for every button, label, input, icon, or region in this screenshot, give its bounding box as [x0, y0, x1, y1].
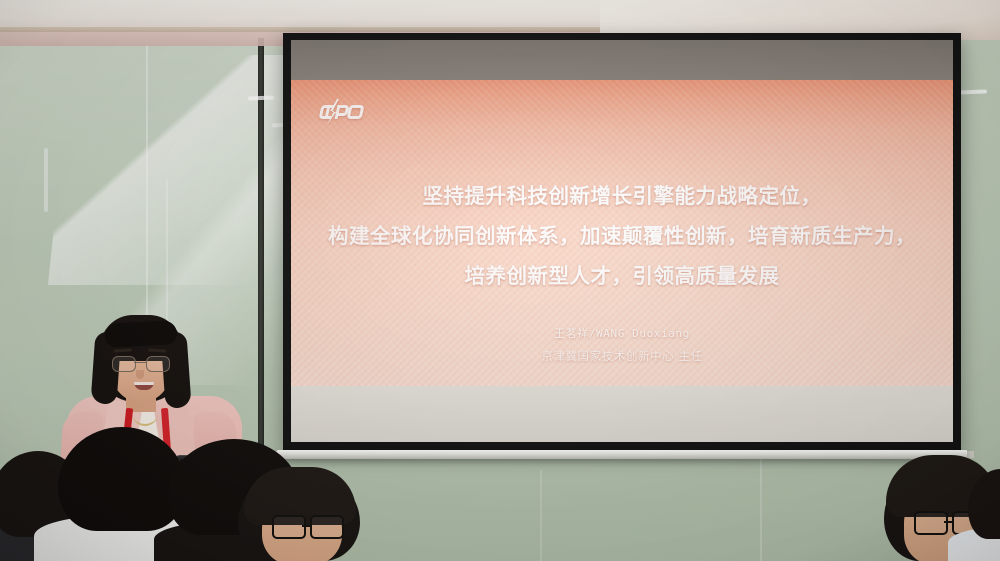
slide-presenter-name: 王茗祥/WANG Duoxiang [291, 323, 953, 345]
slide-title-line: 坚持提升科技创新增长引擎能力战略定位， [291, 176, 953, 216]
presenter-hair-fringe [104, 320, 177, 348]
eyeglass-bridge [302, 525, 310, 527]
slide-presenter-affiliation: 京津冀国家技术创新中心 主任 [291, 345, 953, 367]
projection-letterbox-bottom [291, 386, 953, 442]
screen-roller-bar [277, 450, 967, 459]
audience-member-6 [968, 465, 1000, 561]
audience-eyeglasses-icon [272, 519, 342, 539]
eyeglass-lens-right [146, 356, 170, 372]
presenter-nose [136, 370, 144, 379]
presenter-eyeglasses-icon [112, 356, 170, 370]
audience-member-4 [238, 461, 362, 561]
audience-head [58, 427, 186, 531]
eyeglass-lens-right [310, 515, 344, 539]
wall-light-streak [44, 148, 48, 212]
projection-surface: 坚持提升科技创新增长引擎能力战略定位， 构建全球化协同创新体系，加速颠覆性创新，… [291, 40, 953, 442]
eyeglass-bridge [944, 521, 952, 523]
slide-title: 坚持提升科技创新增长引擎能力战略定位， 构建全球化协同创新体系，加速颠覆性创新，… [291, 176, 953, 296]
projection-letterbox-top [291, 40, 953, 80]
eyeglass-lens-left [272, 515, 306, 539]
slide-title-line: 构建全球化协同创新体系，加速颠覆性创新，培育新质生产力， [291, 216, 953, 256]
presentation-photo-scene: 坚持提升科技创新增长引擎能力战略定位， 构建全球化协同创新体系，加速颠覆性创新，… [0, 0, 1000, 561]
eyeglass-lens-left [112, 356, 136, 372]
slide-byline: 王茗祥/WANG Duoxiang 京津冀国家技术创新中心 主任 [291, 323, 953, 367]
audience-head [968, 469, 1000, 539]
projection-screen: 坚持提升科技创新增长引擎能力战略定位， 构建全球化协同创新体系，加速颠覆性创新，… [283, 33, 961, 450]
eyeglass-bridge [134, 362, 146, 363]
presentation-slide: 坚持提升科技创新增长引擎能力战略定位， 构建全球化协同创新体系，加速颠覆性创新，… [291, 80, 953, 386]
eyeglass-lens-left [914, 511, 948, 535]
glass-panel-seam [540, 470, 542, 561]
dpo-wordmark-logo-icon [313, 98, 375, 126]
slide-title-line: 培养创新型人才，引领高质量发展 [291, 256, 953, 296]
